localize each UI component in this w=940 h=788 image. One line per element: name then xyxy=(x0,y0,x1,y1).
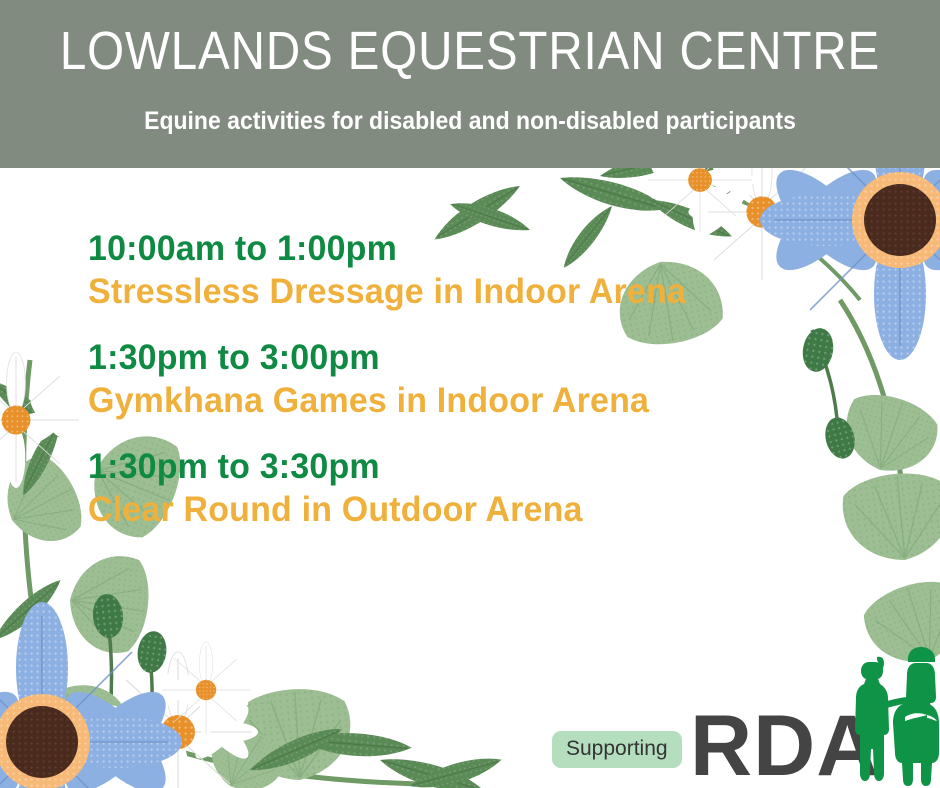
poster-canvas: LOWLANDS EQUESTRIAN CENTRE Equine activi… xyxy=(0,0,940,788)
schedule-entry-time: 10:00am to 1:00pm xyxy=(88,228,786,269)
horse-and-rider-with-walker-silhouette xyxy=(847,645,940,788)
schedule-entry-activity: Clear Round in Outdoor Arena xyxy=(88,487,786,533)
rda-logo: Supporting RDA xyxy=(552,645,940,788)
schedule-entry: 1:30pm to 3:30pm Clear Round in Outdoor … xyxy=(88,446,808,533)
schedule-entry: 1:30pm to 3:00pm Gymkhana Games in Indoo… xyxy=(88,337,808,424)
supporting-badge: Supporting xyxy=(552,731,682,768)
flora-bottom-left xyxy=(0,593,504,788)
page-subtitle: Equine activities for disabled and non-d… xyxy=(38,107,903,136)
page-title: LOWLANDS EQUESTRIAN CENTRE xyxy=(56,20,883,82)
schedule-entry-activity: Stressless Dressage in Indoor Arena xyxy=(88,269,786,315)
schedule-entry: 10:00am to 1:00pm Stressless Dressage in… xyxy=(88,228,808,315)
schedule-entry-time: 1:30pm to 3:00pm xyxy=(88,337,786,378)
schedule-entry-time: 1:30pm to 3:30pm xyxy=(88,446,786,487)
header-band: LOWLANDS EQUESTRIAN CENTRE Equine activi… xyxy=(0,0,940,168)
schedule-entry-activity: Gymkhana Games in Indoor Arena xyxy=(88,378,786,424)
schedule-list: 10:00am to 1:00pm Stressless Dressage in… xyxy=(88,228,808,554)
